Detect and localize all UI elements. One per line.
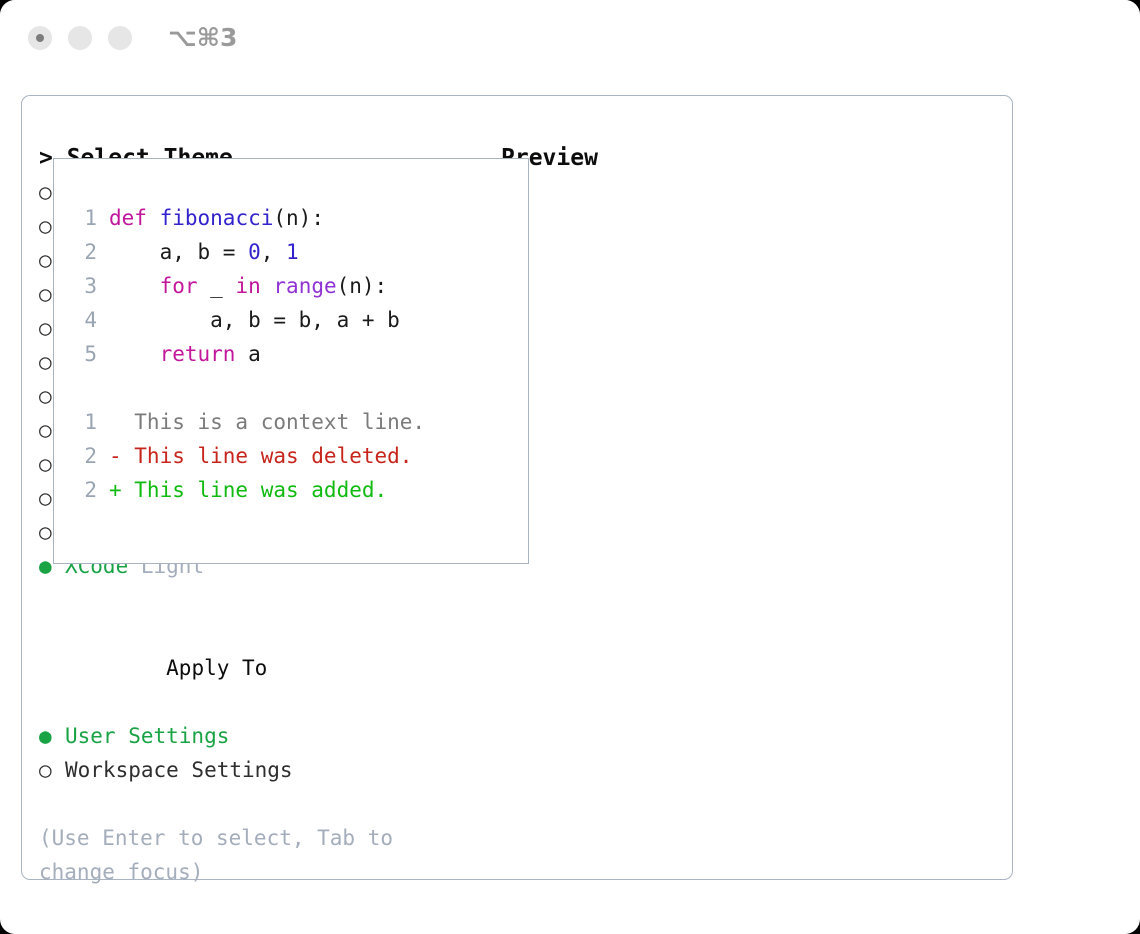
apply-to-marker-spacer: ○ <box>140 651 166 685</box>
line-number: 4 <box>71 303 97 337</box>
keyboard-hint-text: (Use Enter to select, Tab to change focu… <box>39 821 439 889</box>
code-token: 0 <box>248 240 261 264</box>
code-token: a <box>235 342 260 366</box>
code-token: 1 <box>286 240 299 264</box>
title-bar: ⌥⌘3 <box>0 0 1140 76</box>
apply-to-list[interactable]: ●User Settings○Workspace Settings <box>39 719 489 787</box>
diff-line-text: + This line was added. <box>109 478 387 502</box>
traffic-light-close-icon[interactable] <box>28 26 52 50</box>
preview-heading: Preview <box>501 141 1001 175</box>
main-panel: > Select Theme ○ANSI Dark○Atom One Dark○… <box>21 95 1013 880</box>
diff-line: 2+ This line was added. <box>71 473 425 507</box>
apply-to-option-row[interactable]: ○Workspace Settings <box>39 753 489 787</box>
line-number: 1 <box>71 405 97 439</box>
code-preview: 1def fibonacci(n):2 a, b = 0, 13 for _ i… <box>71 201 425 507</box>
code-line: 2 a, b = 0, 1 <box>71 235 425 269</box>
code-token: fibonacci <box>160 206 274 230</box>
line-number: 2 <box>71 439 97 473</box>
code-token: in <box>235 274 260 298</box>
code-token <box>147 206 160 230</box>
code-blank-line <box>71 371 425 405</box>
code-token: for <box>160 274 198 298</box>
preview-box: 1def fibonacci(n):2 a, b = 0, 13 for _ i… <box>53 158 529 564</box>
diff-line: 1 This is a context line. <box>71 405 425 439</box>
app-window: ⌥⌘3 > Select Theme ○ANSI Dark○Atom One D… <box>0 0 1140 934</box>
apply-to-heading: ○Apply To <box>39 617 489 719</box>
code-token <box>109 274 160 298</box>
code-token: def <box>109 206 147 230</box>
diff-line-text: - This line was deleted. <box>109 444 412 468</box>
code-line: 1def fibonacci(n): <box>71 201 425 235</box>
code-token: range <box>273 274 336 298</box>
line-number: 3 <box>71 269 97 303</box>
line-number: 2 <box>71 235 97 269</box>
preview-column: Preview <box>501 141 1001 175</box>
code-line: 4 a, b = b, a + b <box>71 303 425 337</box>
line-number: 2 <box>71 473 97 507</box>
apply-to-option-row[interactable]: ●User Settings <box>39 719 489 753</box>
apply-to-option-name: User Settings <box>65 724 229 748</box>
code-token: (n): <box>273 206 324 230</box>
code-token: , <box>261 240 286 264</box>
traffic-light-maximize-icon[interactable] <box>108 26 132 50</box>
keyboard-shortcut-label: ⌥⌘3 <box>168 22 237 54</box>
apply-to-option-name: Workspace Settings <box>65 758 293 782</box>
code-token: a, b = b, a + b <box>109 308 400 332</box>
code-token: (n): <box>337 274 388 298</box>
code-token: return <box>160 342 236 366</box>
code-token: a, b = <box>109 240 248 264</box>
code-line: 5 return a <box>71 337 425 371</box>
apply-to-label: Apply To <box>166 656 267 680</box>
line-number: 1 <box>71 201 97 235</box>
code-token: _ <box>198 274 236 298</box>
radio-unselected-icon: ○ <box>39 753 65 787</box>
line-number: 5 <box>71 337 97 371</box>
diff-line-text: This is a context line. <box>109 410 425 434</box>
radio-selected-icon: ● <box>39 719 65 753</box>
diff-line: 2- This line was deleted. <box>71 439 425 473</box>
code-token <box>109 342 160 366</box>
code-token <box>261 274 274 298</box>
traffic-light-minimize-icon[interactable] <box>68 26 92 50</box>
code-line: 3 for _ in range(n): <box>71 269 425 303</box>
